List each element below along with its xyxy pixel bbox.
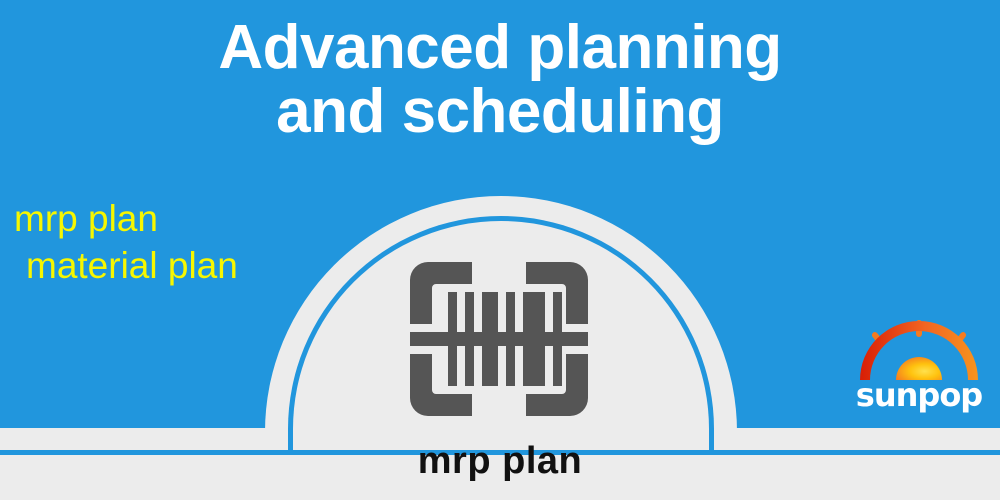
subtitle-keywords: mrp plan material plan [14, 196, 238, 290]
icon-caption: mrp plan [0, 440, 1000, 483]
page-title: Advanced planning and scheduling [0, 16, 1000, 144]
headline-line-1: Advanced planning [218, 13, 781, 82]
sunpop-logo[interactable]: sunpop [845, 318, 993, 418]
headline-line-2: and scheduling [0, 80, 1000, 144]
banner-canvas: Advanced planning and scheduling mrp pla… [0, 0, 1000, 500]
barcode-scanner-icon [402, 254, 596, 424]
subtitle-line-2: material plan [14, 243, 238, 290]
sunpop-wordmark: sunpop [845, 376, 993, 414]
subtitle-line-1: mrp plan [14, 196, 238, 243]
